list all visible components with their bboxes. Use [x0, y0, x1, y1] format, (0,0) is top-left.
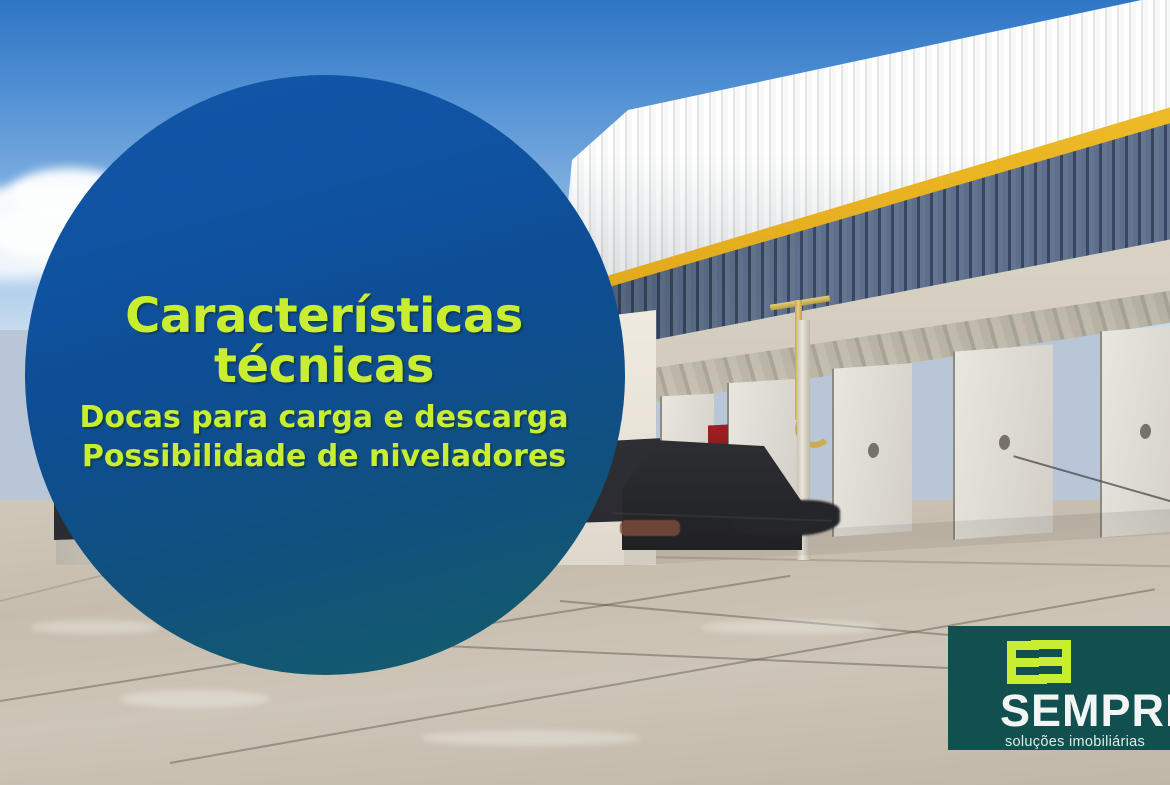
- dock-door-handle: [868, 443, 879, 459]
- bullet-line-2: Possibilidade de niveladores: [0, 437, 640, 477]
- dock-door-handle: [1140, 423, 1151, 439]
- headline: Características técnicas: [0, 292, 640, 392]
- bullet-line-1: Docas para carga e descarga: [0, 398, 640, 438]
- text-block: Características técnicas Docas para carg…: [0, 292, 640, 477]
- pavement-scuff: [420, 730, 640, 746]
- slide-canvas: Características técnicas Docas para carg…: [0, 0, 1170, 785]
- sempre-s-monogram-icon: [1003, 637, 1075, 687]
- pavement-scuff: [120, 690, 270, 708]
- loading-dock-door: [832, 363, 912, 537]
- ground-debris: [620, 520, 680, 536]
- brand-wordmark: SEMPRE: [1000, 688, 1170, 733]
- brand-logo[interactable]: SEMPRE soluções imobiliárias: [948, 626, 1170, 750]
- pavement-scuff: [30, 620, 160, 634]
- dock-door-handle: [999, 434, 1010, 450]
- loading-dock-door: [953, 344, 1053, 539]
- brand-tagline: soluções imobiliárias: [1005, 734, 1145, 750]
- loading-dock-door: [1100, 325, 1170, 538]
- pavement-scuff: [700, 620, 880, 634]
